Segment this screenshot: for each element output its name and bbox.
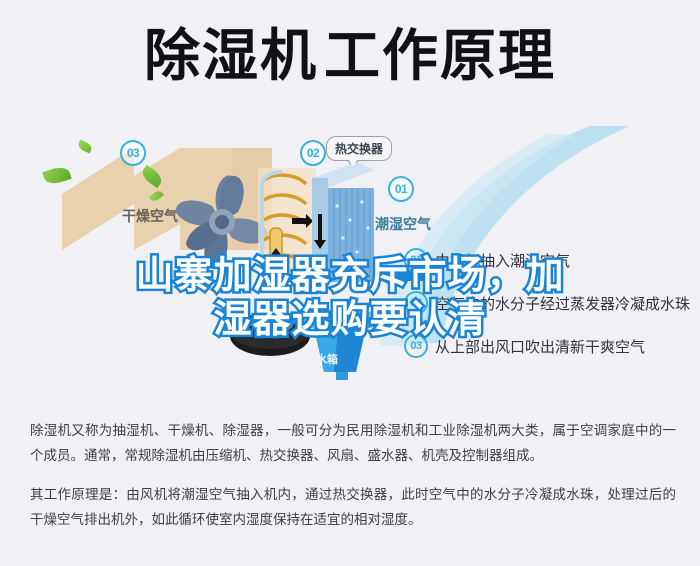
humid-air-label: 潮湿空气: [375, 214, 431, 234]
step-description: 从上部出风口吹出清新干爽空气: [435, 336, 645, 357]
process-steps-list: 01 由风机抽入潮湿空气 02 空气中的水分子经过蒸发器冷凝成水珠 03 从上部…: [404, 248, 694, 377]
heat-exchanger-callout: 热交换器: [326, 136, 392, 161]
page-title: 除湿机工作原理: [0, 24, 700, 88]
water-tank-label: 水箱: [316, 351, 338, 367]
step-number-badge: 02: [404, 291, 428, 315]
article-body: 除湿机又称为抽湿机、干燥机、除湿器，一般可分为民用除湿机和工业除湿机两大类，属于…: [30, 418, 676, 546]
process-step: 02 空气中的水分子经过蒸发器冷凝成水珠: [404, 291, 694, 315]
diagram-badge-03: 03: [120, 140, 146, 166]
process-step: 03 从上部出风口吹出清新干爽空气: [404, 334, 694, 358]
body-paragraph-2: 其工作原理是：由风机将潮湿空气抽入机内，通过热交换器，此时空气中的水分子冷凝成水…: [30, 482, 676, 532]
refrigerant-coil-assembly: [256, 166, 318, 284]
body-paragraph-1: 除湿机又称为抽湿机、干燥机、除湿器，一般可分为民用除湿机和工业除湿机两大类，属于…: [30, 418, 676, 468]
diagram-badge-01: 01: [388, 176, 414, 202]
evaporator-fin-block: [312, 162, 374, 282]
process-step: 01 由风机抽入潮湿空气: [404, 248, 694, 272]
poster-root: 除湿机工作原理 03 02 01 干燥空气 潮湿空气 热交换器: [0, 0, 700, 566]
step-number-badge: 01: [404, 248, 428, 272]
step-description: 由风机抽入潮湿空气: [435, 250, 570, 271]
step-number-badge: 03: [404, 334, 428, 358]
page-title-part1: 除湿机: [144, 24, 318, 87]
page-title-part2: 工作原理: [324, 24, 556, 87]
water-tank: [288, 306, 394, 380]
step-description: 空气中的水分子经过蒸发器冷凝成水珠: [435, 293, 690, 314]
